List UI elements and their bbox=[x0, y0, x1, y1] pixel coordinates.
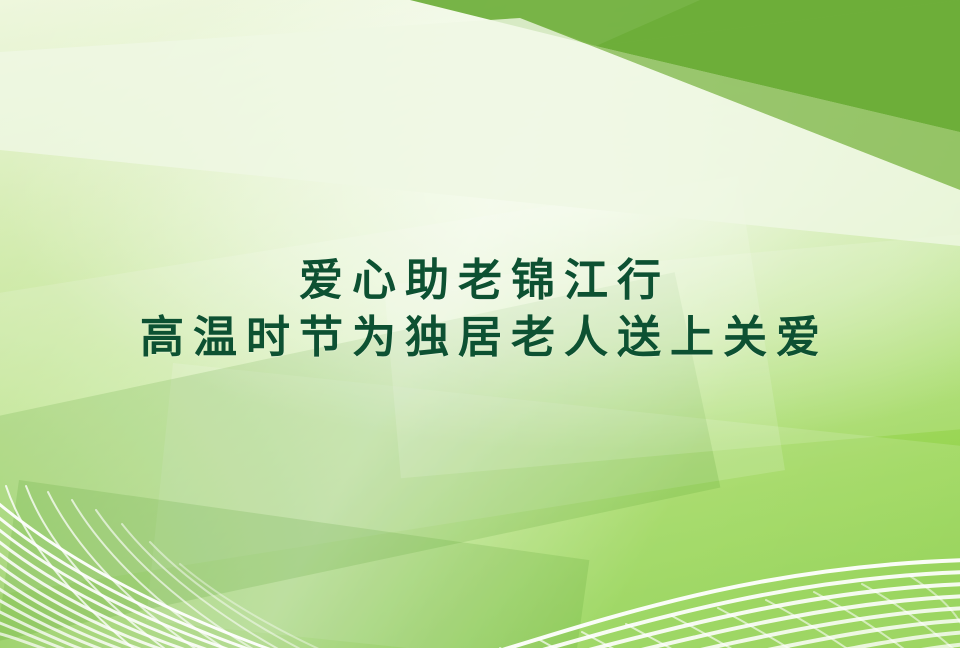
headline-line-1: 爱心助老锦江行 bbox=[0, 252, 960, 309]
promotional-banner: 爱心助老锦江行 高温时节为独居老人送上关爱 bbox=[0, 0, 960, 648]
headline-block: 爱心助老锦江行 高温时节为独居老人送上关爱 bbox=[0, 252, 960, 366]
headline-line-2: 高温时节为独居老人送上关爱 bbox=[0, 309, 960, 366]
